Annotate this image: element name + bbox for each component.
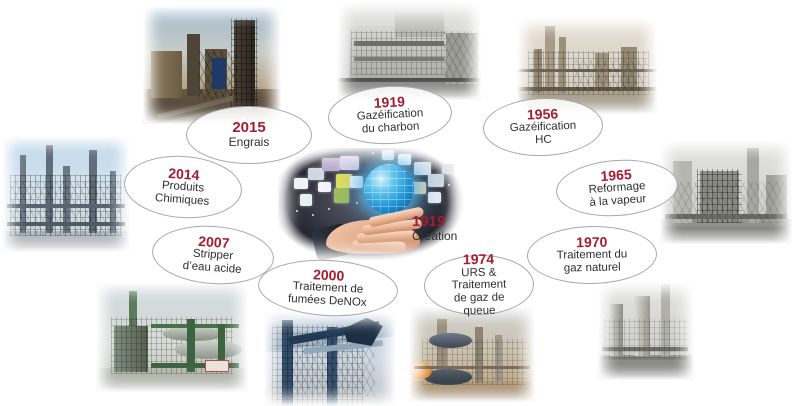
- denox-flue-gas-photo: [264, 312, 396, 406]
- sour-water-stripper-photo: [96, 282, 248, 392]
- milestone-label: Engrais: [229, 136, 270, 149]
- milestone-year: 1974: [463, 252, 494, 267]
- milestone-label: Création: [412, 230, 457, 244]
- timeline-infographic: 1919 Création 2015 Engrais 1919 Gazéific…: [0, 0, 800, 406]
- sulfur-recovery-unit-photo: [409, 306, 535, 402]
- milestone-2000[interactable]: 2000 Traitement de fumées DeNOx: [257, 256, 400, 319]
- milestone-label-line2: du charbon: [362, 121, 420, 137]
- milestone-label-line2: à la vapeur: [589, 193, 647, 210]
- natural-gas-treatment-plant-photo: [598, 282, 694, 380]
- milestone-year: 1919: [412, 214, 457, 230]
- milestone-label-line4: queue: [463, 305, 495, 318]
- milestone-label-line1: Gazéification: [510, 120, 577, 135]
- milestone-label-line2: gaz naturel: [564, 262, 621, 276]
- milestone-center-caption: 1919 Création: [412, 214, 457, 244]
- milestone-label-line1: Traitement du: [557, 249, 628, 263]
- milestone-1970[interactable]: 1970 Traitement du gaz naturel: [527, 225, 658, 285]
- milestone-1956[interactable]: 1956 Gazéification HC: [482, 96, 604, 158]
- milestone-label-line2: fumées DeNOx: [288, 293, 367, 310]
- milestone-year: 2015: [232, 120, 265, 136]
- milestone-year: 1956: [527, 106, 559, 122]
- milestone-label-line3: de gaz de: [454, 292, 505, 306]
- steam-reforming-plant-photo: [660, 140, 792, 244]
- milestone-2014[interactable]: 2014 Produits Chimiques: [122, 152, 244, 222]
- milestone-label-line2: HC: [535, 134, 552, 147]
- milestone-label-line2: d’eau acide: [182, 260, 242, 277]
- milestone-label-line2: Chimiques: [154, 192, 209, 209]
- milestone-year: 2000: [313, 267, 345, 283]
- milestone-year: 1919: [373, 94, 405, 110]
- coal-gasification-building-photo: [337, 2, 481, 100]
- milestone-label-line1: URS &: [461, 266, 496, 279]
- milestone-label-line2: Traitement: [452, 279, 507, 293]
- chemical-refinery-photo: [2, 136, 130, 252]
- milestone-year: 1970: [576, 235, 607, 250]
- milestone-2015[interactable]: 2015 Engrais: [186, 106, 312, 164]
- milestone-2007[interactable]: 2007 Stripper d’eau acide: [150, 222, 276, 288]
